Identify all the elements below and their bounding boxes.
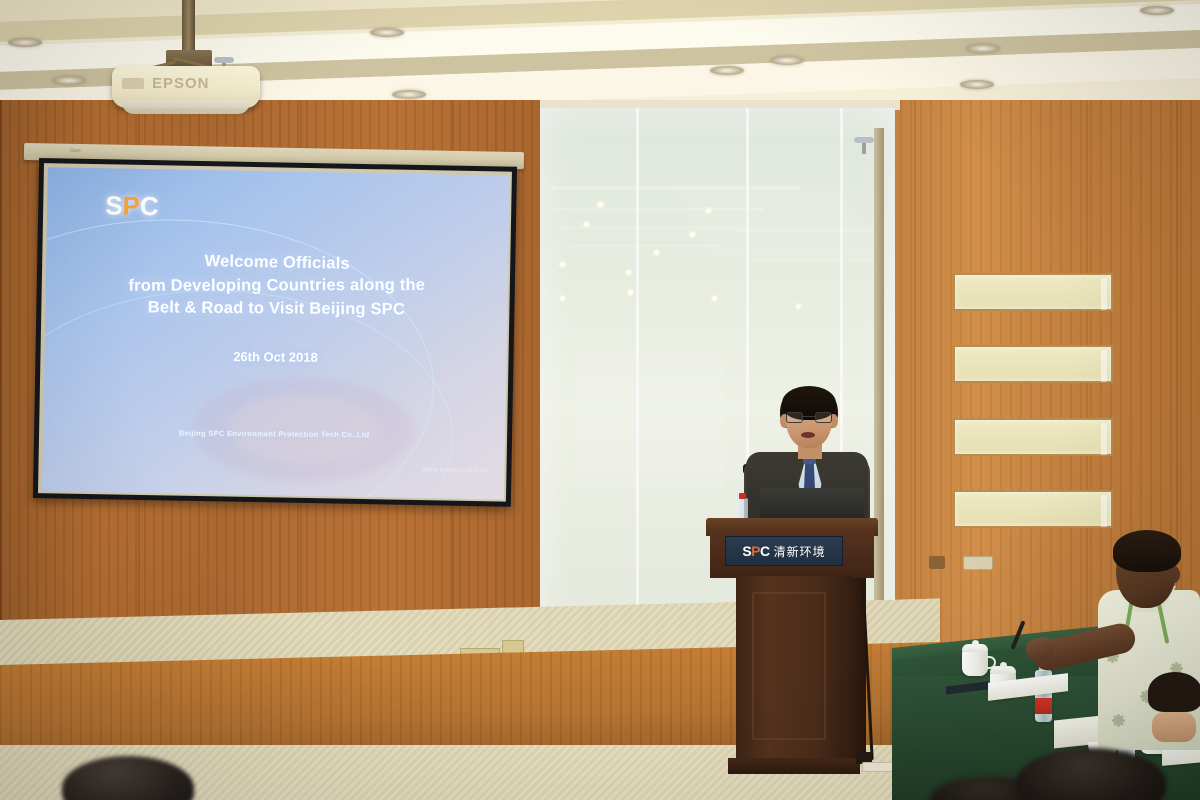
downlight-icon bbox=[770, 56, 804, 65]
logo-letter-c: C bbox=[140, 191, 159, 221]
downlight-icon bbox=[370, 28, 404, 37]
wall-glass-panel bbox=[953, 273, 1113, 311]
partition-post bbox=[874, 128, 884, 628]
wall-outlet bbox=[929, 556, 945, 569]
podium-logo-p: P bbox=[751, 543, 760, 559]
slide-title-line-2: from Developing Countries along the bbox=[56, 274, 498, 298]
wall-glass-panel bbox=[953, 418, 1113, 456]
projected-slide: SPC Welcome Officials from Developing Co… bbox=[42, 167, 510, 499]
wall-glass-panel bbox=[953, 345, 1113, 383]
wall-glass-panel bbox=[953, 490, 1113, 528]
wall-socket-plate bbox=[963, 556, 993, 570]
downlight-icon bbox=[1140, 6, 1174, 15]
screen-casing-label: Dum bbox=[70, 148, 81, 154]
projector-lens bbox=[122, 100, 250, 114]
podium-sign: SPC 清新环境 bbox=[725, 536, 843, 566]
downlight-icon bbox=[8, 38, 42, 47]
podium-logo: SPC bbox=[742, 543, 769, 559]
downlight-icon bbox=[960, 80, 994, 89]
slide-website-url: www.qingxin.com.cn bbox=[422, 466, 488, 474]
podium-base bbox=[728, 758, 860, 774]
slide-spc-logo: SPC bbox=[105, 190, 159, 222]
podium-sign-chinese: 清新环境 bbox=[774, 543, 826, 560]
downlight-icon bbox=[966, 44, 1000, 53]
projector-brand-label: EPSON bbox=[152, 75, 210, 92]
second-attendee-hand bbox=[1152, 712, 1196, 742]
second-attendee-head bbox=[1148, 672, 1200, 712]
podium-logo-s: S bbox=[742, 543, 751, 559]
logo-letter-s: S bbox=[105, 190, 123, 220]
tea-mug bbox=[962, 650, 988, 676]
projection-screen[interactable]: SPC Welcome Officials from Developing Co… bbox=[33, 158, 517, 507]
conference-room-photo: EPSON Dum SPC Welcome Officials from Dev… bbox=[0, 0, 1200, 800]
podium-panel-inset bbox=[752, 592, 826, 740]
shirt-pattern-motif bbox=[1112, 714, 1125, 727]
slide-title: Welcome Officials from Developing Countr… bbox=[45, 247, 508, 324]
downlight-icon bbox=[392, 90, 426, 99]
logo-letter-p: P bbox=[122, 191, 140, 221]
slide-title-line-3: Belt & Road to Visit Beijing SPC bbox=[55, 296, 497, 322]
speaker-mouth bbox=[801, 432, 815, 438]
downlight-icon bbox=[52, 76, 86, 85]
attendee-hair bbox=[1113, 530, 1181, 572]
podium-logo-c: C bbox=[760, 543, 770, 559]
speaker-glasses-icon bbox=[786, 412, 832, 423]
sprinkler-icon bbox=[862, 142, 866, 154]
projector-badge bbox=[122, 78, 144, 89]
downlight-icon bbox=[710, 66, 744, 75]
